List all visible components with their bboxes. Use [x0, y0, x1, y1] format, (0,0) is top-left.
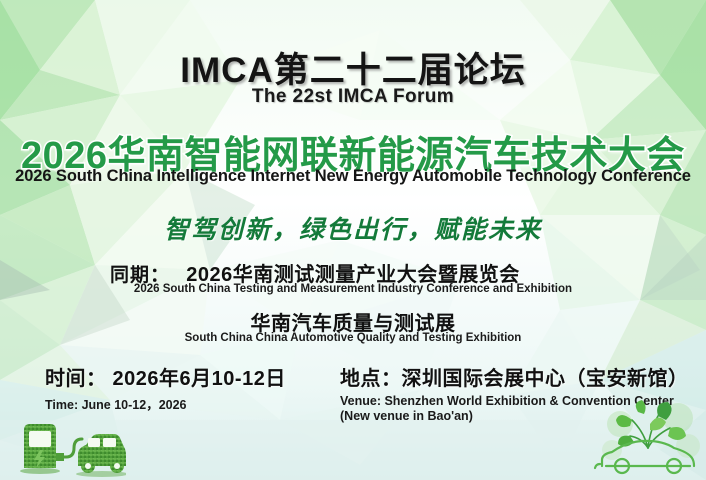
slogan: 智驾创新，绿色出行，赋能未来: [0, 210, 706, 246]
forum-title-en: The 22st IMCA Forum: [0, 86, 706, 108]
event-venue-cn: 地点：深圳国际会展中心（宝安新馆）: [340, 362, 689, 391]
concurrent-event-2-en: South China China Automotive Quality and…: [0, 332, 706, 344]
conference-poster: IMCA第二十二届论坛 The 22st IMCA Forum 2026华南智能…: [0, 0, 706, 480]
event-time-block: 时间： 2026年6月10-12日 Time: June 10-12，2026: [45, 362, 286, 413]
event-time-en: Time: June 10-12，2026: [45, 394, 286, 413]
ev-charging-station-icon: [14, 414, 126, 480]
concurrent-event-1-en: 2026 South China Testing and Measurement…: [0, 283, 706, 295]
main-title-en: 2026 South China Intelligence Internet N…: [0, 167, 706, 186]
event-time-cn: 时间： 2026年6月10-12日: [45, 362, 286, 391]
green-car-with-leaves-icon: [592, 398, 704, 480]
